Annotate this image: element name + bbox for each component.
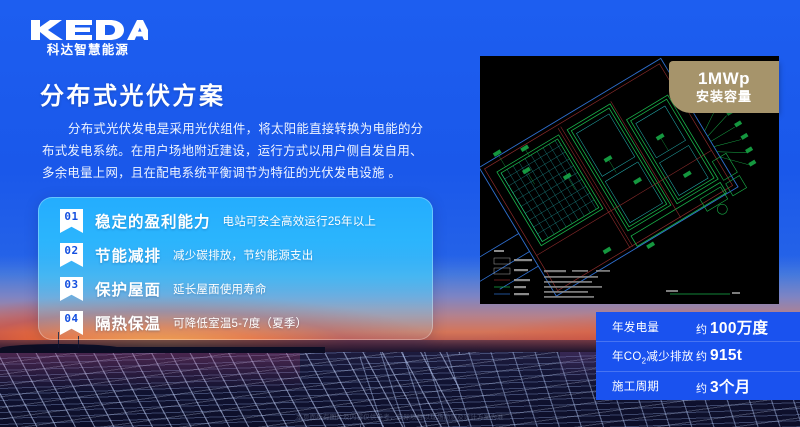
- stat-value: 约 915t: [696, 347, 742, 365]
- capacity-label: 安装容量: [696, 88, 752, 105]
- stat-row: 施工周期 约 3个月: [596, 371, 800, 400]
- feature-number: 01: [64, 209, 78, 224]
- panel-glare-left: [0, 352, 300, 392]
- page-title: 分布式光伏方案: [40, 76, 226, 111]
- feature-title: 隔热保温: [95, 312, 161, 334]
- treeline-silhouette-mid: [115, 347, 325, 353]
- feature-desc: 延长屋面使用寿命: [173, 281, 267, 297]
- feature-title: 节能减排: [95, 244, 161, 266]
- stat-row: 年CO2减少排放 约 915t: [596, 341, 800, 370]
- feature-desc: 电站可安全高效运行25年以上: [223, 213, 377, 229]
- stat-number: 3个月: [710, 375, 751, 397]
- stat-value: 约 100万度: [696, 316, 768, 338]
- stat-label-tail: 减少排放: [646, 351, 693, 363]
- stat-label: 施工周期: [612, 378, 696, 394]
- stat-number: 915t: [710, 347, 742, 365]
- feature-number: 02: [64, 243, 78, 258]
- feature-number-badge-icon: 02: [60, 243, 83, 267]
- stat-row: 年发电量 约 100万度: [596, 312, 800, 341]
- feature-item[interactable]: 01 稳定的盈利能力 电站可安全高效运行25年以上: [60, 208, 376, 234]
- stat-prefix: 约: [696, 348, 707, 364]
- feature-number-badge-icon: 04: [60, 311, 83, 335]
- stat-prefix: 约: [696, 321, 707, 337]
- feature-number-badge-icon: 01: [60, 209, 83, 233]
- stats-panel: 年发电量 约 100万度 年CO2减少排放 约 915t 施工周期 约 3个月: [596, 312, 800, 400]
- feature-title: 保护屋面: [95, 278, 161, 300]
- stat-label: 年CO2减少排放: [612, 348, 696, 365]
- stat-prefix: 约: [696, 380, 707, 396]
- feature-desc: 减少碳排放，节约能源支出: [173, 247, 313, 263]
- capacity-badge: 1MWp 安装容量: [669, 61, 779, 113]
- stat-number: 100万度: [710, 316, 768, 338]
- slide-canvas: 科达智慧能源 分布式光伏方案 分布式光伏发电是采用光伏组件，将太阳能直接转换为电…: [0, 0, 800, 427]
- capacity-value: 1MWp: [698, 69, 750, 88]
- stat-value: 约 3个月: [696, 375, 751, 397]
- footer-disclaimer: 本页面所有图片及内容仅供参考，实际项目以现场勘测及设计方案为准: [0, 411, 800, 421]
- intro-paragraph: 分布式光伏发电是采用光伏组件，将太阳能直接转换为电能的分布式发电系统。在用户场地…: [42, 118, 432, 184]
- treeline-silhouette-left: [0, 344, 120, 353]
- brand-logo: 科达智慧能源: [28, 18, 148, 57]
- feature-title: 稳定的盈利能力: [95, 210, 211, 232]
- feature-number-badge-icon: 03: [60, 277, 83, 301]
- feature-item[interactable]: 04 隔热保温 可降低室温5-7度（夏季）: [60, 310, 307, 336]
- feature-number: 03: [64, 277, 78, 292]
- feature-item[interactable]: 02 节能减排 减少碳排放，节约能源支出: [60, 242, 313, 268]
- feature-item[interactable]: 03 保护屋面 延长屋面使用寿命: [60, 276, 267, 302]
- stat-label: 年发电量: [612, 319, 696, 335]
- features-card: 01 稳定的盈利能力 电站可安全高效运行25年以上 02 节能减排 减少碳排放，…: [38, 197, 433, 340]
- stat-label-main: 年CO: [612, 351, 642, 363]
- feature-number: 04: [64, 311, 78, 326]
- feature-desc: 可降低室温5-7度（夏季）: [173, 315, 307, 331]
- keda-wordmark-icon: [28, 18, 148, 42]
- brand-logo-subtitle: 科达智慧能源: [28, 43, 148, 57]
